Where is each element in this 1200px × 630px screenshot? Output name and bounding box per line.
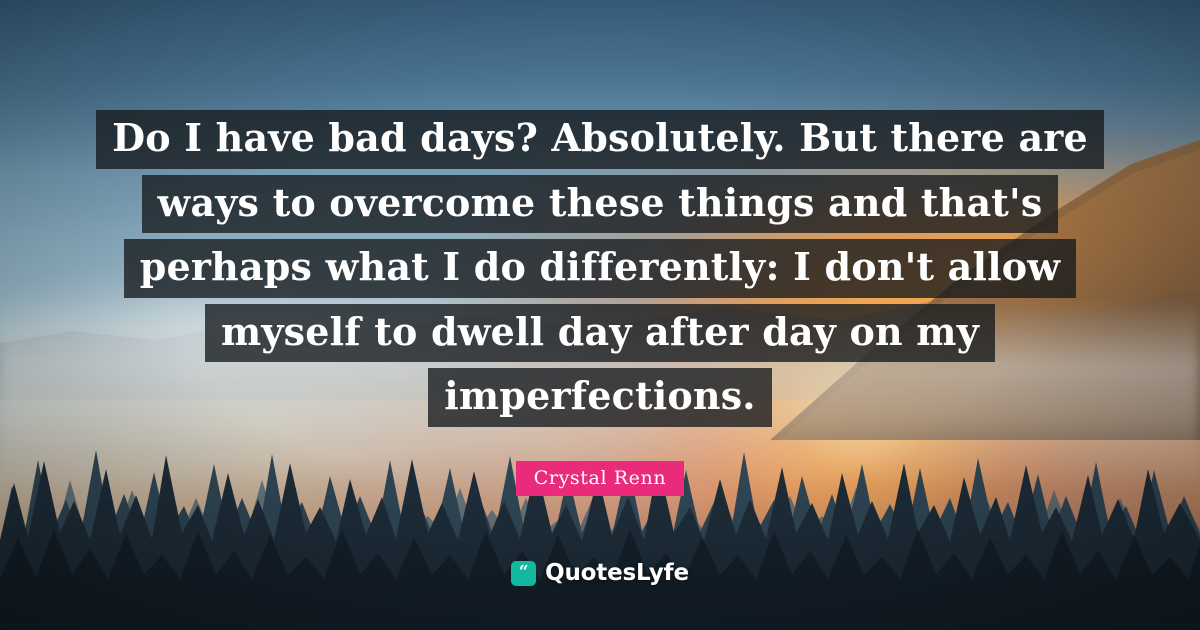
brand-name: QuotesLyfe [545,560,689,586]
quote-line: perhaps what I do differently: I don't a… [124,239,1076,298]
author-badge-wrapper: Crystal Renn [516,461,684,496]
quote-line: Do I have bad days? Absolutely. But ther… [96,110,1104,169]
quote-poster: Do I have bad days? Absolutely. But ther… [0,0,1200,630]
quote-line: ways to overcome these things and that's [142,175,1059,234]
quote-content: Do I have bad days? Absolutely. But ther… [0,0,1200,630]
quote-author: Crystal Renn [516,461,684,496]
quote-line: imperfections. [428,368,771,427]
quote-mark-icon: “ [511,561,536,586]
quote-line: myself to dwell day after day on my [205,304,995,363]
brand-footer: “ QuotesLyfe [0,560,1200,586]
quote-mark-glyph: “ [519,564,529,581]
quote-text: Do I have bad days? Absolutely. But ther… [80,110,1120,433]
